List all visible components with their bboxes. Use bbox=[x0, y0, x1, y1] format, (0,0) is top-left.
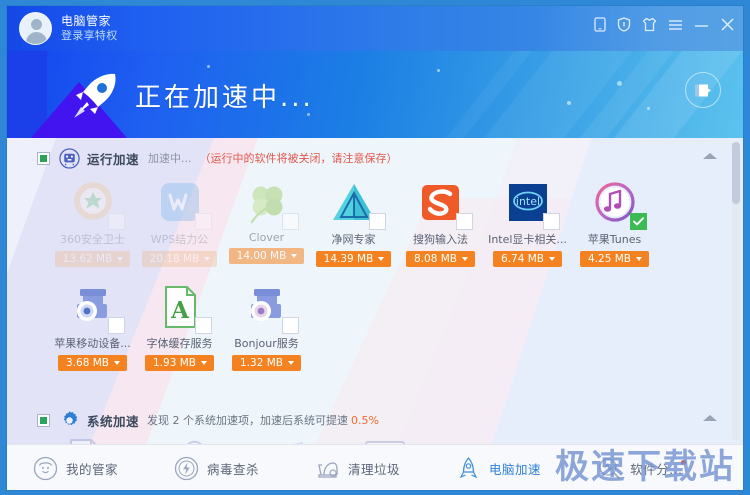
section-summary-system: 发现 2 个系统加速项，加速后系统可提速 bbox=[147, 412, 348, 428]
section-state-running: 加速中... bbox=[148, 150, 192, 166]
collapse-arrow-icon-system[interactable] bbox=[703, 415, 717, 421]
avatar[interactable] bbox=[19, 12, 52, 45]
login-link[interactable]: 登录享特权 bbox=[61, 29, 118, 43]
window-frame: 电脑管家 登录享特权 bbox=[6, 5, 744, 491]
app-item-size-text: 14.39 MB bbox=[324, 253, 374, 265]
app-item-name: 360安全卫士 bbox=[49, 231, 136, 247]
chevron-down-icon bbox=[288, 361, 294, 365]
nav-label: 我的管家 bbox=[66, 459, 118, 478]
running-accel-icon bbox=[59, 148, 80, 169]
app-item-size[interactable]: 14.00 MB bbox=[229, 248, 305, 264]
app-item-size-text: 14.00 MB bbox=[237, 250, 287, 262]
hero-sparkle bbox=[647, 107, 650, 110]
chevron-down-icon bbox=[378, 257, 384, 261]
skin-icon[interactable] bbox=[642, 17, 657, 32]
app-item-size[interactable]: 1.93 MB bbox=[145, 355, 214, 371]
vacuum-icon bbox=[315, 456, 340, 481]
app-item-size-text: 3.68 MB bbox=[66, 357, 109, 369]
hero-sparkle bbox=[437, 69, 440, 72]
app-item[interactable]: Clover 14.00 MB bbox=[223, 179, 310, 267]
item-checkbox[interactable] bbox=[108, 213, 125, 230]
app-item-name: Clover bbox=[223, 231, 310, 244]
item-checkbox[interactable] bbox=[282, 317, 299, 334]
app-item[interactable]: A 字体缓存服务 1.93 MB bbox=[136, 283, 223, 371]
bonjour-icon bbox=[243, 283, 291, 331]
collapse-panel-button[interactable] bbox=[685, 72, 721, 108]
refresh-icon[interactable] bbox=[363, 437, 407, 444]
app-item-name: Bonjour服务 bbox=[223, 335, 310, 351]
virus-scan-icon bbox=[174, 456, 199, 481]
app-item[interactable]: Bonjour服务 1.32 MB bbox=[223, 283, 310, 371]
chevron-down-icon bbox=[201, 361, 207, 365]
nav-item-butler[interactable]: 我的管家 bbox=[33, 456, 118, 481]
software-manage-icon bbox=[597, 456, 622, 481]
hero-banner: 正在加速中... bbox=[7, 51, 743, 138]
chevron-down-icon bbox=[114, 361, 120, 365]
sogou-icon bbox=[417, 179, 465, 227]
avatar-body bbox=[26, 32, 47, 45]
app-item-size-text: 1.32 MB bbox=[240, 357, 283, 369]
item-status-check[interactable] bbox=[630, 213, 647, 230]
app-item-size[interactable]: 8.08 MB bbox=[406, 251, 475, 267]
notification-dot bbox=[681, 460, 686, 465]
app-item-size[interactable]: 4.25 MB bbox=[580, 251, 649, 267]
netguard-icon bbox=[330, 179, 378, 227]
app-item[interactable]: intel Intel显卡相关... 6.74 MB bbox=[484, 179, 571, 267]
scrollbar-thumb[interactable] bbox=[732, 142, 740, 204]
app-item-size[interactable]: 20.18 MB bbox=[142, 251, 218, 267]
app-item-size[interactable]: 13.62 MB bbox=[55, 251, 131, 267]
chevron-down-icon bbox=[117, 257, 123, 261]
app-item-name: 净网专家 bbox=[310, 231, 397, 247]
close-icon[interactable] bbox=[720, 17, 735, 32]
font-cache-icon: A bbox=[156, 283, 204, 331]
rocket-icon bbox=[69, 69, 121, 121]
windows-icon[interactable] bbox=[263, 437, 307, 444]
app-item-name: 苹果移动设备... bbox=[49, 335, 136, 351]
wrench-icon[interactable] bbox=[163, 437, 207, 444]
section-highlight-system: 0.5% bbox=[351, 414, 379, 427]
wps-icon bbox=[156, 179, 204, 227]
nav-label: 电脑加速 bbox=[489, 459, 541, 478]
running-items-grid: 360安全卫士 13.62 MB WPS结力公 bbox=[7, 171, 707, 385]
app-item-name: 字体缓存服务 bbox=[136, 335, 223, 351]
chevron-down-icon bbox=[204, 257, 210, 261]
section-checkbox-system[interactable] bbox=[37, 414, 50, 427]
apple-mobile-device-icon bbox=[69, 283, 117, 331]
system-items-row bbox=[7, 433, 743, 444]
svg-text:intel: intel bbox=[515, 195, 539, 208]
document-icon[interactable] bbox=[63, 437, 107, 444]
app-item-size-text: 6.74 MB bbox=[501, 253, 544, 265]
nav-item-virus-scan[interactable]: 病毒查杀 bbox=[174, 456, 259, 481]
app-item[interactable]: 360安全卫士 13.62 MB bbox=[49, 179, 136, 267]
app-item-size-text: 20.18 MB bbox=[150, 253, 200, 265]
app-item[interactable]: 净网专家 14.39 MB bbox=[310, 179, 397, 267]
item-checkbox[interactable] bbox=[195, 317, 212, 334]
nav-item-pc-accelerate[interactable]: 电脑加速 bbox=[456, 456, 541, 481]
scroll-region[interactable]: 运行加速 加速中... （运行中的软件将被关闭，请注意保存） bbox=[7, 138, 743, 444]
chevron-down-icon bbox=[291, 254, 297, 258]
shield-icon[interactable] bbox=[617, 17, 631, 32]
butler-icon bbox=[33, 456, 58, 481]
item-checkbox[interactable] bbox=[543, 213, 560, 230]
section-checkbox-running[interactable] bbox=[37, 152, 50, 165]
app-item-size-text: 13.62 MB bbox=[63, 253, 113, 265]
app-item-size-text: 1.93 MB bbox=[153, 357, 196, 369]
app-item-size-text: 4.25 MB bbox=[588, 253, 631, 265]
shield-360-icon bbox=[69, 179, 117, 227]
app-item[interactable]: 苹果移动设备... 3.68 MB bbox=[49, 283, 136, 371]
app-item-name: 苹果Tunes bbox=[571, 231, 658, 247]
mobile-icon[interactable] bbox=[594, 17, 606, 32]
minimize-icon[interactable] bbox=[694, 19, 709, 31]
app-item-size[interactable]: 3.68 MB bbox=[58, 355, 127, 371]
collapse-panel-icon bbox=[694, 83, 712, 98]
app-title: 电脑管家 bbox=[61, 14, 118, 29]
bottom-nav: 我的管家 病毒查杀 清理垃圾 bbox=[7, 444, 743, 491]
item-checkbox[interactable] bbox=[456, 213, 473, 230]
check-icon bbox=[633, 217, 644, 226]
section-header-running: 运行加速 加速中... （运行中的软件将被关闭，请注意保存） bbox=[7, 145, 743, 171]
title-bar: 电脑管家 登录享特权 bbox=[7, 6, 743, 51]
hero-sparkle bbox=[207, 65, 210, 68]
item-checkbox[interactable] bbox=[108, 317, 125, 334]
nav-label: 病毒查杀 bbox=[207, 459, 259, 478]
app-item-size-text: 8.08 MB bbox=[414, 253, 457, 265]
gear-icon bbox=[59, 410, 80, 431]
app-item-name: 搜狗输入法 bbox=[397, 231, 484, 247]
section-note-running: （运行中的软件将被关闭，请注意保存） bbox=[200, 150, 398, 166]
rocket-nav-icon bbox=[456, 456, 481, 481]
chevron-down-icon bbox=[549, 257, 555, 261]
content-area: 运行加速 加速中... （运行中的软件将被关闭，请注意保存） bbox=[7, 138, 743, 444]
nav-item-software-manage[interactable]: 软件分... bbox=[597, 456, 682, 481]
section-title-running: 运行加速 bbox=[87, 149, 139, 168]
collapse-arrow-icon-running[interactable] bbox=[703, 153, 717, 159]
hero-sparkle bbox=[617, 81, 622, 86]
itunes-icon bbox=[591, 179, 639, 227]
item-checkbox[interactable] bbox=[369, 213, 386, 230]
app-item[interactable]: 苹果Tunes 4.25 MB bbox=[571, 179, 658, 267]
chevron-down-icon bbox=[636, 257, 642, 261]
nav-label: 软件分... bbox=[630, 459, 682, 478]
user-block[interactable]: 电脑管家 登录享特权 bbox=[19, 12, 118, 45]
app-item-size[interactable]: 6.74 MB bbox=[493, 251, 562, 267]
window-controls bbox=[594, 17, 735, 32]
item-checkbox[interactable] bbox=[195, 213, 212, 230]
app-item-size[interactable]: 14.39 MB bbox=[316, 251, 392, 267]
nav-item-clean-junk[interactable]: 清理垃圾 bbox=[315, 456, 400, 481]
item-checkbox[interactable] bbox=[282, 213, 299, 230]
app-item[interactable]: WPS结力公 20.18 MB bbox=[136, 179, 223, 267]
app-window: 电脑管家 登录享特权 bbox=[0, 0, 750, 495]
hero-sparkle bbox=[567, 101, 571, 105]
hero-title: 正在加速中... bbox=[135, 77, 314, 114]
avatar-head bbox=[31, 19, 42, 30]
app-item[interactable]: 搜狗输入法 8.08 MB bbox=[397, 179, 484, 267]
intel-icon: intel bbox=[504, 179, 552, 227]
section-title-system: 系统加速 bbox=[87, 411, 139, 430]
menu-icon[interactable] bbox=[668, 19, 683, 31]
app-item-name: Intel显卡相关... bbox=[484, 231, 571, 247]
clover-icon bbox=[243, 179, 291, 227]
svg-text:A: A bbox=[170, 297, 190, 324]
section-header-system: 系统加速 发现 2 个系统加速项，加速后系统可提速 0.5% bbox=[7, 407, 743, 433]
app-item-name: WPS结力公 bbox=[136, 231, 223, 247]
nav-label: 清理垃圾 bbox=[348, 459, 400, 478]
app-item-size[interactable]: 1.32 MB bbox=[232, 355, 301, 371]
chevron-down-icon bbox=[462, 257, 468, 261]
